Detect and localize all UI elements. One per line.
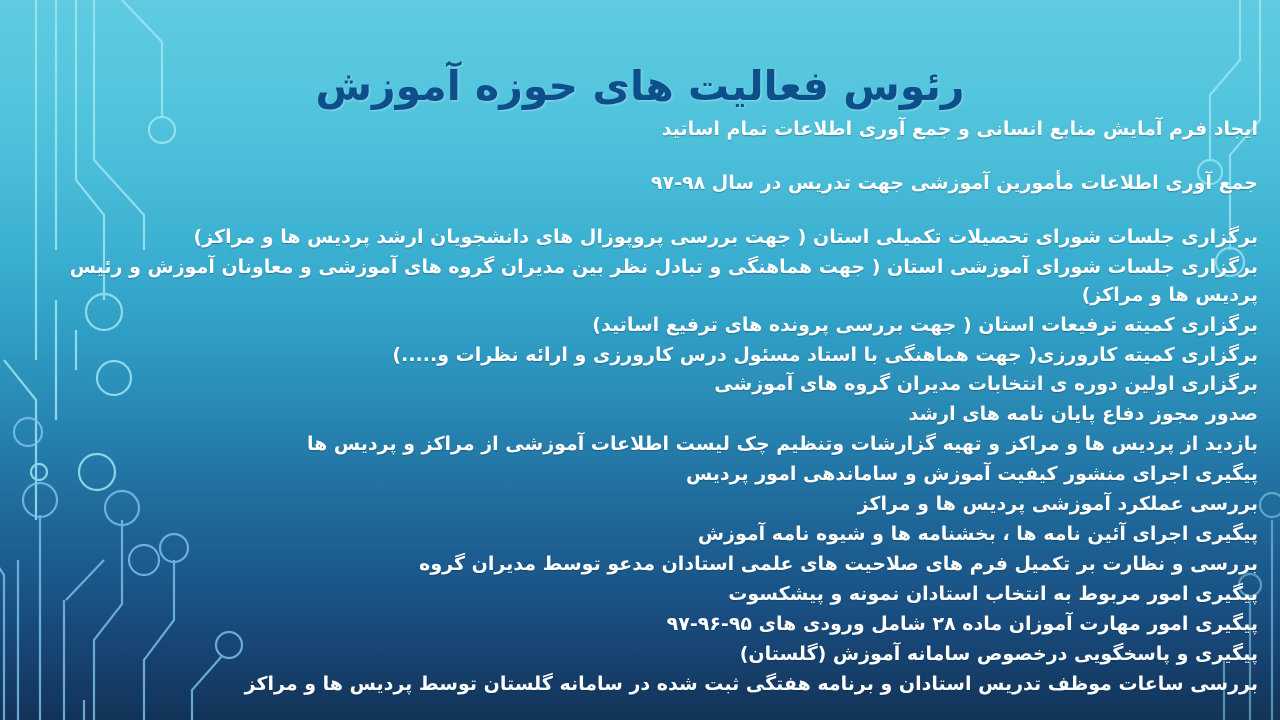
list-item: بررسی ساعات موظف تدریس استادان و برنامه … [22,671,1258,699]
list-item: برگزاری اولین دوره ی انتخابات مدیران گرو… [22,371,1258,399]
list-item: برگزاری کمیته کارورزی( جهت هماهنگی با اس… [22,342,1258,370]
list-item: برگزاری کمیته ترفیعات استان ( جهت بررسی … [22,312,1258,340]
list-item: صدور مجوز دفاع پایان نامه های ارشد [22,401,1258,429]
list-item: ایجاد فرم آمایش منابع انسانی و جمع آوری … [22,116,1258,144]
page-title: رئوس فعالیت های حوزه آموزش [0,61,1280,112]
list-item: برگزاری جلسات شورای آموزشی استان ( جهت ه… [22,254,1258,310]
list-item: پیگیری و پاسخگویی درخصوص سامانه آموزش (گ… [22,641,1258,669]
list-item: بازدید از پردیس ها و مراکز و تهیه گزارشا… [22,431,1258,459]
presentation-slide: رئوس فعالیت های حوزه آموزش ایجاد فرم آما… [0,0,1280,720]
list-item: بررسی و نظارت بر تکمیل فرم های صلاحیت ها… [22,551,1258,579]
list-item: پیگیری اجرای آئین نامه ها ، بخشنامه ها و… [22,521,1258,549]
list-item: پیگیری امور مهارت آموزان ماده ۲۸ شامل ور… [22,611,1258,639]
list-item: برگزاری جلسات شورای تحصیلات تکمیلی استان… [22,224,1258,252]
list-item: بررسی عملکرد آموزشی پردیس ها و مراکز [22,491,1258,519]
activity-list: ایجاد فرم آمایش منابع انسانی و جمع آوری … [22,116,1258,699]
list-item: جمع آوری اطلاعات مأمورین آموزشی جهت تدری… [22,170,1258,198]
list-item: پیگیری امور مربوط به انتخاب استادان نمون… [22,581,1258,609]
list-item: پیگیری اجرای منشور کیفیت آموزش و سامانده… [22,461,1258,489]
